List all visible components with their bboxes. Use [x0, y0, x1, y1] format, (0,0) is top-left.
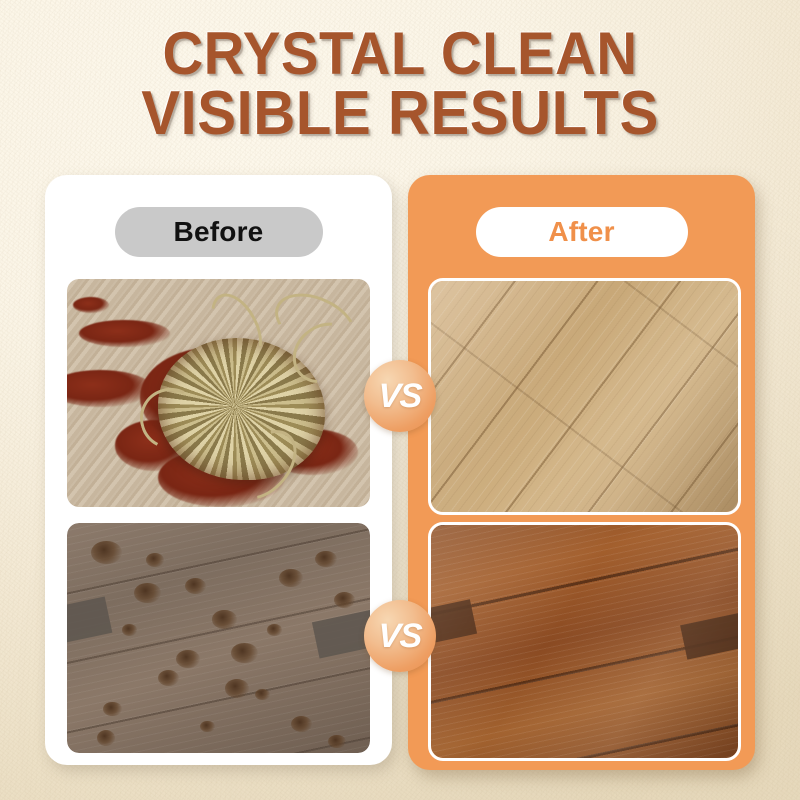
after-photo-clean-oak [428, 278, 741, 515]
floor-stain [231, 643, 258, 664]
after-photo-polished-wood-image [431, 525, 738, 758]
after-photo-polished-wood [428, 522, 741, 761]
before-label-text: Before [174, 216, 264, 248]
floor-gloss-highlight [431, 281, 738, 512]
promo-banner: CRYSTAL CLEAN VISIBLE RESULTS Before [0, 0, 800, 800]
before-photo-spaghetti-image [67, 279, 370, 507]
floor-stain [212, 610, 236, 628]
after-photo-clean-oak-image [431, 281, 738, 512]
before-photo-spaghetti [67, 279, 370, 507]
before-panel: Before [45, 175, 392, 765]
title-line-2: VISIBLE RESULTS [24, 83, 776, 144]
before-label-pill: Before [115, 207, 323, 257]
vs-badge-top: VS [364, 360, 436, 432]
floor-stain [91, 541, 121, 564]
floor-stain [334, 592, 355, 608]
floor-stain [122, 624, 137, 636]
floor-stain [255, 689, 270, 701]
after-panel: After [408, 175, 755, 770]
floor-stain [315, 551, 336, 567]
title-line-1: CRYSTAL CLEAN [24, 24, 776, 83]
after-label-text: After [548, 216, 614, 248]
before-photo-stained-floor-image [67, 523, 370, 753]
floor-stain [176, 650, 200, 668]
floor-stain [103, 702, 121, 716]
page-title: CRYSTAL CLEAN VISIBLE RESULTS [0, 24, 800, 145]
before-photo-stained-floor [67, 523, 370, 753]
vs-badge-bottom-label: VS [377, 617, 422, 656]
floor-gloss-highlight [431, 525, 738, 758]
vs-badge-top-label: VS [377, 377, 422, 416]
floor-stain [328, 735, 346, 749]
floor-stain [267, 624, 282, 636]
floor-stain [225, 679, 249, 697]
vs-badge-bottom: VS [364, 600, 436, 672]
after-label-pill: After [476, 207, 688, 257]
floor-stain [146, 553, 164, 567]
